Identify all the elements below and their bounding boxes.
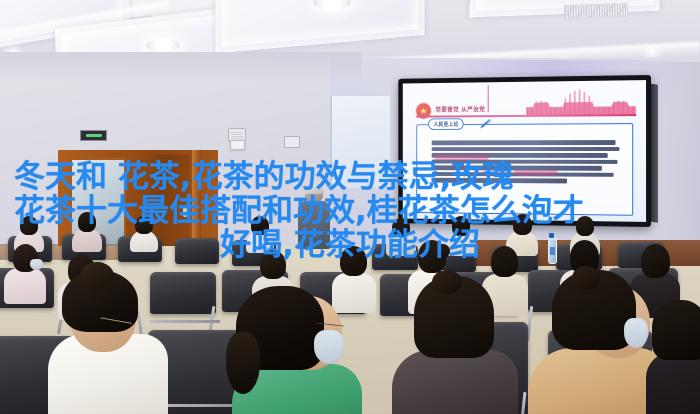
attendee — [246, 216, 274, 252]
attendee-hair-bun — [435, 244, 450, 258]
water-bottle-cap — [549, 233, 554, 238]
attendee-hair — [78, 212, 96, 232]
tiananmen-illustration — [526, 86, 636, 115]
slide-header-text: 党要管党 从严治党 — [435, 104, 485, 113]
attendee-hair — [652, 300, 700, 360]
pen-icon — [480, 119, 491, 129]
attendee-foreground — [48, 272, 168, 414]
attendee-hair — [641, 244, 670, 278]
door-edge — [192, 150, 201, 252]
attendee-hair — [20, 216, 38, 235]
presenter-body — [298, 201, 330, 249]
wall-cable — [270, 148, 272, 162]
attendee — [72, 212, 102, 250]
speaker-grill — [231, 131, 243, 139]
attendee-body — [4, 268, 46, 304]
attendee-hair — [392, 218, 410, 237]
attendee-hair — [135, 216, 153, 234]
slide-content-card: 人民至上论 — [417, 123, 634, 216]
flagpole-icon — [488, 85, 489, 112]
attendee-hair — [452, 216, 470, 236]
attendee — [130, 216, 158, 250]
exit-sign — [80, 130, 107, 141]
ceiling-light — [145, 38, 181, 53]
attendee-hair-bun — [572, 266, 600, 290]
slide-text-line — [432, 140, 615, 145]
slide-card-title: 人民至上论 — [428, 118, 464, 130]
face-mask — [314, 330, 344, 364]
wall-control-panel[interactable] — [230, 140, 245, 150]
attendee-hair-bun — [80, 262, 114, 290]
attendee — [4, 244, 46, 300]
face-mask — [30, 259, 43, 270]
presenter-hair — [304, 185, 324, 194]
slide-divider — [417, 114, 636, 117]
slide-highlight — [514, 171, 557, 176]
slide-text-line — [432, 159, 617, 164]
slide-text-line — [432, 165, 602, 170]
water-bottle[interactable] — [548, 238, 557, 264]
attendee-body — [646, 352, 700, 414]
presenter — [297, 186, 331, 248]
attendee-hair — [251, 216, 269, 235]
attendee-foreground — [392, 280, 518, 414]
attendee-hair — [576, 216, 594, 236]
projection-screen-bezel: 党要管党 从严治党 人民至上论 — [398, 75, 651, 227]
wall-shadow — [0, 52, 362, 82]
attendee-hair — [340, 246, 367, 276]
side-wall-panel — [330, 96, 390, 188]
face-mask — [624, 318, 648, 348]
wall-socket[interactable] — [284, 136, 300, 148]
attendee-hair — [491, 246, 518, 277]
attendee-hair-bun — [432, 270, 462, 294]
projection-screen: 党要管党 从严治党 人民至上论 — [403, 80, 646, 222]
slide-text-line — [432, 178, 567, 183]
ceiling-air-vent — [564, 3, 628, 19]
attendee-foreground — [228, 286, 364, 414]
chair[interactable] — [175, 238, 219, 264]
door-handle[interactable] — [183, 205, 187, 217]
slide-text-line — [432, 147, 619, 151]
attendee-body — [392, 350, 518, 414]
exit-sign-glyph — [86, 134, 102, 137]
attendee-ponytail — [226, 332, 260, 394]
attendee-foreground — [646, 300, 700, 414]
screenshot-stage: 党要管党 从严治党 人民至上论 — [0, 0, 700, 414]
attendee-hair — [260, 250, 286, 279]
attendee-hair — [513, 214, 532, 235]
slide-highlight — [434, 155, 488, 160]
